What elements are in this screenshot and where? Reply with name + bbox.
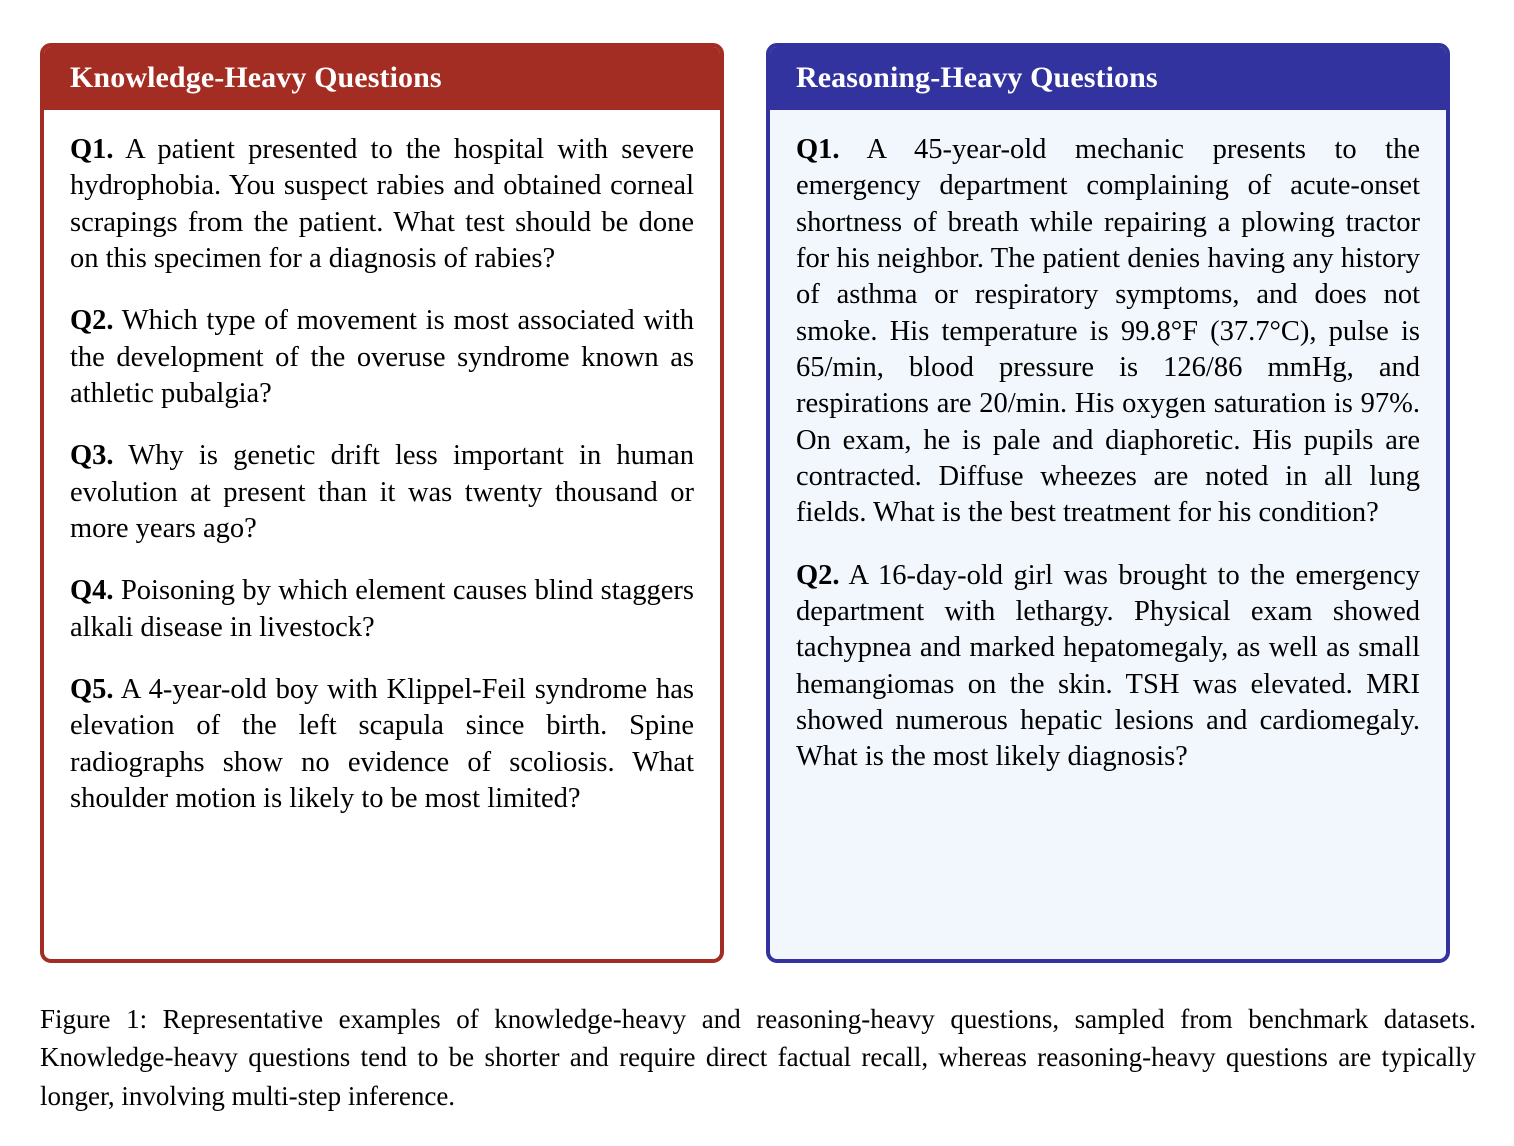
question-label: Q1. [70,134,114,165]
knowledge-heavy-panel: Knowledge-Heavy Questions Q1. A patient … [40,43,724,963]
question-text: A 16-day-old girl was brought to the eme… [796,560,1420,773]
question-label: Q1. [796,134,840,165]
figure-container: Knowledge-Heavy Questions Q1. A patient … [0,0,1514,1146]
figure-caption: Figure 1: Representative examples of kno… [40,1000,1476,1115]
question-text: A 45-year-old mechanic presents to the e… [796,134,1420,528]
question-item: Q1. A patient presented to the hospital … [70,132,694,277]
question-text: A 4-year-old boy with Klippel-Feil syndr… [70,674,694,814]
question-item: Q1. A 45-year-old mechanic presents to t… [796,132,1420,532]
question-item: Q2. Which type of movement is most assoc… [70,303,694,412]
knowledge-heavy-question-list: Q1. A patient presented to the hospital … [44,110,720,843]
question-text: Why is genetic drift less important in h… [70,440,694,544]
question-label: Q2. [70,305,114,336]
question-text: Which type of movement is most associate… [70,305,694,409]
question-label: Q2. [796,560,840,591]
question-item: Q5. A 4-year-old boy with Klippel-Feil s… [70,672,694,817]
question-label: Q5. [70,674,114,705]
knowledge-heavy-panel-title: Knowledge-Heavy Questions [44,47,720,110]
question-panels: Knowledge-Heavy Questions Q1. A patient … [40,43,1474,963]
question-text: Poisoning by which element causes blind … [70,575,694,642]
question-text: A patient presented to the hospital with… [70,134,694,274]
question-label: Q3. [70,440,114,471]
reasoning-heavy-panel-title: Reasoning-Heavy Questions [770,47,1446,110]
question-item: Q3. Why is genetic drift less important … [70,438,694,547]
question-item: Q4. Poisoning by which element causes bl… [70,573,694,646]
reasoning-heavy-panel: Reasoning-Heavy Questions Q1. A 45-year-… [766,43,1450,963]
question-label: Q4. [70,575,114,606]
question-item: Q2. A 16-day-old girl was brought to the… [796,558,1420,776]
reasoning-heavy-question-list: Q1. A 45-year-old mechanic presents to t… [770,110,1446,802]
